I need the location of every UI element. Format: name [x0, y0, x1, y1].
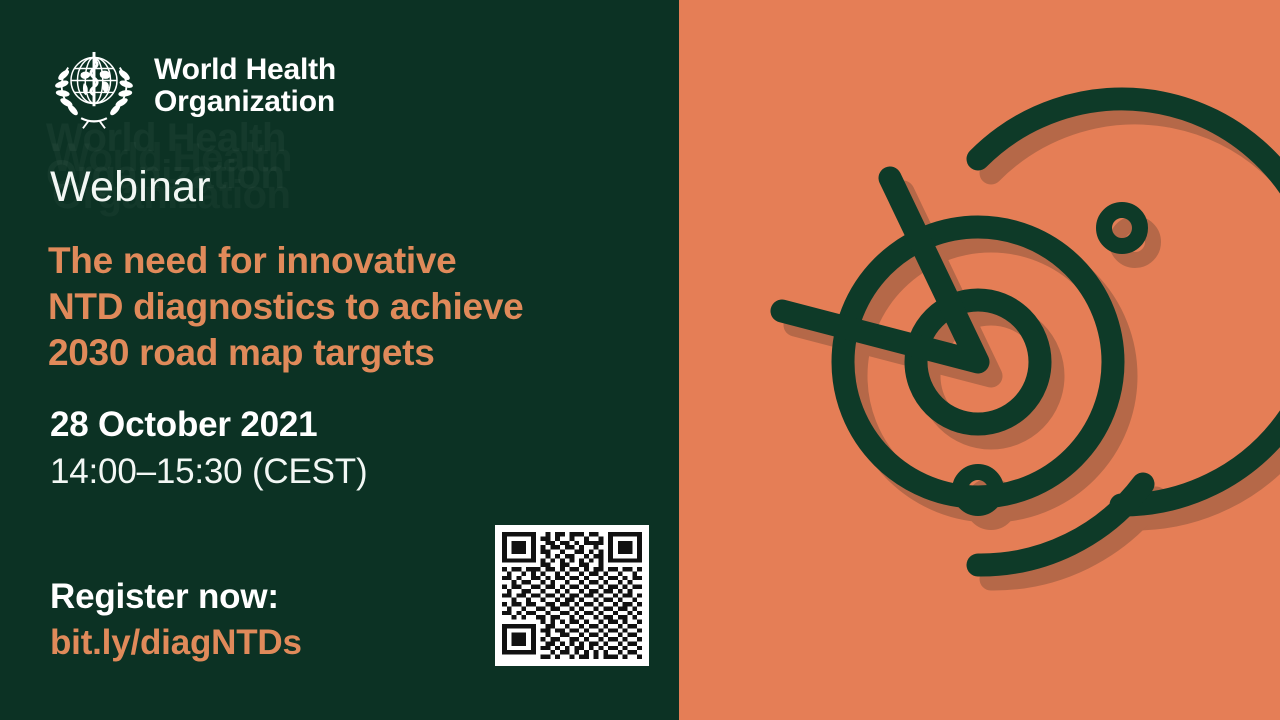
radar-gap-dot — [1111, 495, 1129, 513]
webinar-kicker: Webinar — [50, 163, 211, 212]
radar-sweep-illustration — [679, 0, 1280, 720]
left-info-panel: World Health Organization World Health O… — [0, 0, 679, 720]
webinar-poster: World Health Organization World Health O… — [0, 0, 1280, 720]
webinar-title: The need for innovative NTD diagnostics … — [48, 238, 648, 376]
qr-code-canvas — [502, 532, 642, 659]
who-logo-lockup: World Health Organization — [48, 40, 336, 132]
right-illustration-panel — [679, 0, 1280, 720]
radar-line-layer — [782, 99, 1280, 565]
event-time: 14:00–15:30 (CEST) — [50, 452, 367, 492]
register-label: Register now: — [50, 577, 279, 617]
registration-link[interactable]: bit.ly/diagNTDs — [50, 623, 302, 663]
registration-qr-code[interactable] — [495, 525, 649, 666]
who-wordmark: World Health Organization — [154, 54, 336, 119]
event-date: 28 October 2021 — [50, 405, 317, 445]
who-emblem — [48, 40, 140, 132]
